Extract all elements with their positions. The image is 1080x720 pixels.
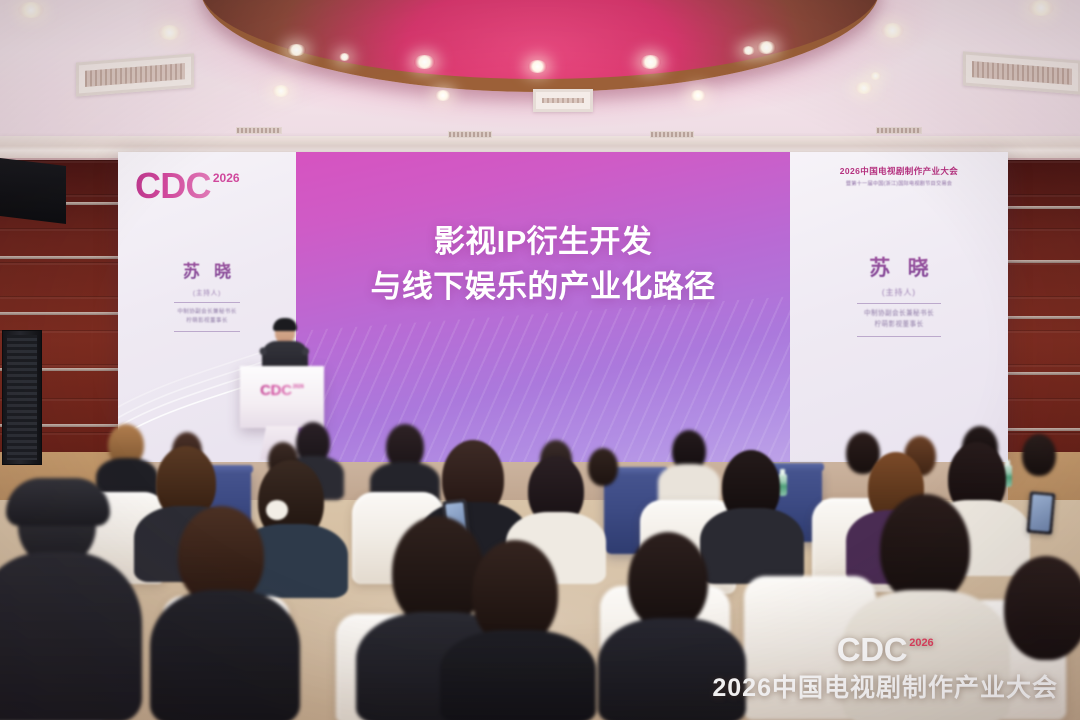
lectern-cdc-logo: CDC 2026 (260, 383, 304, 398)
presenter-hair (273, 318, 297, 331)
ac-vent (76, 53, 194, 96)
slot-vent (448, 131, 492, 138)
cap (6, 478, 110, 526)
ac-vent (963, 51, 1080, 94)
watermark-title: 2026中国电视剧制作产业大会 (712, 668, 1058, 704)
cdc-logo-year: 2026 (213, 172, 240, 184)
slot-vent (876, 127, 922, 134)
hair-scrunchie (266, 500, 288, 520)
attendee-head (628, 532, 708, 630)
downlight (158, 25, 181, 40)
pa-speaker-stack (2, 330, 42, 465)
downlight (339, 53, 350, 61)
speaker-role: (主持人) (790, 287, 1008, 298)
session-title-line-2: 与线下娱乐的产业化路径 (296, 265, 790, 310)
downlight (690, 90, 706, 101)
conference-hall-photo: CDC 2026 苏 晓 (主持人) 中制协副会长兼秘书长 柠萌影视董事长 影视… (0, 0, 1080, 720)
divider-rule (857, 303, 941, 304)
downlight (435, 90, 451, 101)
attendee-shoulders (700, 508, 804, 584)
session-title: 影视IP衍生开发 与线下娱乐的产业化路径 (296, 220, 790, 310)
cdc-logo-text: CDC (135, 168, 211, 204)
downlight (855, 82, 873, 94)
downlight (18, 2, 44, 18)
cdc-logo-year: 2026 (909, 638, 933, 649)
downlight (1028, 0, 1054, 16)
conference-header-line-2: 暨第十一届中国(浙江)国际电视剧节目交易会 (806, 180, 992, 187)
conference-header: 2026中国电视剧制作产业大会 暨第十一届中国(浙江)国际电视剧节目交易会 (806, 165, 992, 187)
speaker-name-card-right: 苏 晓 (主持人) 中制协副会长兼秘书长 柠萌影视董事长 (790, 252, 1008, 337)
smartphone (1026, 491, 1056, 535)
downlight (881, 23, 904, 38)
slot-vent (236, 127, 282, 134)
watermark-logo: CDC 2026 (712, 633, 1058, 666)
divider-rule (857, 336, 941, 337)
screen-cdc-logo: CDC 2026 (135, 168, 240, 204)
downlight (414, 55, 435, 69)
attendee-shoulders (0, 552, 142, 720)
attendee-head (588, 448, 618, 486)
downlight (640, 55, 661, 69)
lectern: CDC 2026 (240, 366, 324, 428)
speaker-org-line-2: 柠萌影视董事长 (790, 320, 1008, 331)
speaker-role: (主持人) (118, 287, 296, 297)
attendee-shoulders (440, 630, 596, 720)
screen-panel-center: 影视IP衍生开发 与线下娱乐的产业化路径 (296, 152, 790, 464)
downlight (870, 72, 881, 80)
cdc-logo-text: CDC (260, 383, 292, 398)
attendee-head (880, 494, 970, 604)
attendee-head (1022, 434, 1056, 476)
speaker-name: 苏 晓 (118, 257, 296, 282)
session-title-line-1: 影视IP衍生开发 (296, 220, 790, 265)
speaker-name: 苏 晓 (790, 252, 1008, 282)
event-watermark: CDC 2026 2026中国电视剧制作产业大会 (712, 633, 1058, 704)
downlight (272, 85, 290, 97)
conference-header-line-1: 2026中国电视剧制作产业大会 (806, 165, 992, 177)
divider-rule (174, 302, 240, 303)
speaker-org-line-1: 中制协副会长兼秘书长 (118, 308, 296, 317)
downlight (287, 44, 306, 56)
downlight (742, 46, 755, 55)
screen-panel-right: 2026中国电视剧制作产业大会 暨第十一届中国(浙江)国际电视剧节目交易会 苏 … (790, 152, 1008, 464)
attendee-shoulders (150, 590, 300, 720)
cdc-logo-year: 2026 (293, 385, 304, 390)
downlight (528, 60, 547, 73)
pa-speaker-overhead (0, 158, 66, 224)
ac-vent-center (533, 89, 593, 112)
downlight (757, 41, 776, 54)
speaker-org-line-1: 中制协副会长兼秘书长 (790, 309, 1008, 320)
slot-vent (650, 131, 694, 138)
divider-rule (174, 331, 240, 332)
cdc-logo-text: CDC (837, 633, 908, 666)
